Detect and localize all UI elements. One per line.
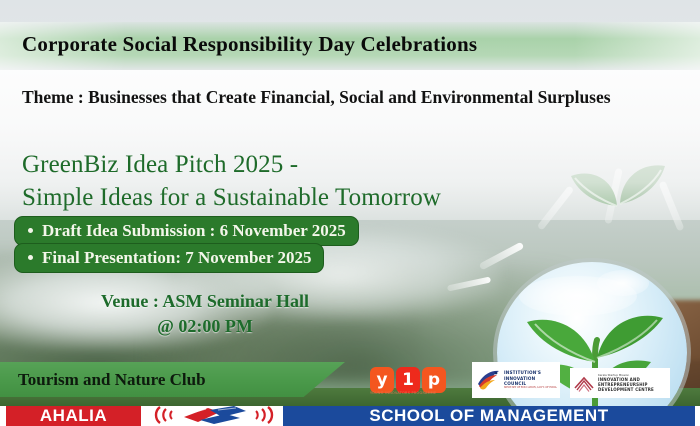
iic-logo-card: INSTITUTION'S INNOVATION COUNCIL MINISTR… xyxy=(472,362,560,398)
yip-letter-2: 1 xyxy=(396,367,420,393)
poster-root: Corporate Social Responsibility Day Cele… xyxy=(0,0,700,426)
date-bullet-label: Draft Idea Submission : 6 November 2025 xyxy=(42,221,346,240)
yip-tagline: YOUNG INNOVATORS PROGRAMME xyxy=(370,391,450,395)
yip-letter-1: y xyxy=(370,367,394,393)
iedc-line-3: DEVELOPMENT CENTRE xyxy=(598,387,654,392)
venue-block: Venue : ASM Seminar Hall @ 02:00 PM xyxy=(40,289,370,339)
date-bullet-label: Final Presentation: 7 November 2025 xyxy=(42,248,311,267)
yip-letter-3: p xyxy=(422,367,446,393)
ahalia-emblem-icon xyxy=(148,404,280,426)
venue-line: Venue : ASM Seminar Hall xyxy=(40,289,370,314)
iic-subtitle: MINISTRY OF EDUCATION, GOVT. OF INDIA xyxy=(504,386,557,389)
event-title: GreenBiz Idea Pitch 2025 - Simple Ideas … xyxy=(22,148,662,214)
lightbulb-graphic xyxy=(497,262,687,426)
date-bullet-final-presentation: Final Presentation: 7 November 2025 xyxy=(14,243,324,273)
bullet-dot-icon xyxy=(28,255,33,260)
event-title-line-1: GreenBiz Idea Pitch 2025 - xyxy=(22,148,662,181)
school-brand-label: SCHOOL OF MANAGEMENT xyxy=(283,406,695,426)
iic-bird-icon xyxy=(475,368,501,392)
theme-text: Theme : Businesses that Create Financial… xyxy=(22,86,662,109)
seedling-icon xyxy=(497,262,687,426)
iedc-text-block: Kerala Startup Mission INNOVATION AND EN… xyxy=(598,374,654,393)
bullet-dot-icon xyxy=(28,228,33,233)
iedc-mark-icon xyxy=(573,373,595,393)
ahalia-brand-label: AHALIA xyxy=(6,406,141,426)
page-title: Corporate Social Responsibility Day Cele… xyxy=(22,32,682,57)
date-bullet-draft-submission: Draft Idea Submission : 6 November 2025 xyxy=(14,216,359,246)
club-name-label: Tourism and Nature Club xyxy=(18,370,206,390)
iedc-logo-card: Kerala Startup Mission INNOVATION AND EN… xyxy=(570,368,670,398)
venue-time: @ 02:00 PM xyxy=(40,314,370,339)
iic-text-block: INSTITUTION'S INNOVATION COUNCIL MINISTR… xyxy=(504,370,557,390)
event-title-line-2: Simple Ideas for a Sustainable Tomorrow xyxy=(22,181,662,214)
